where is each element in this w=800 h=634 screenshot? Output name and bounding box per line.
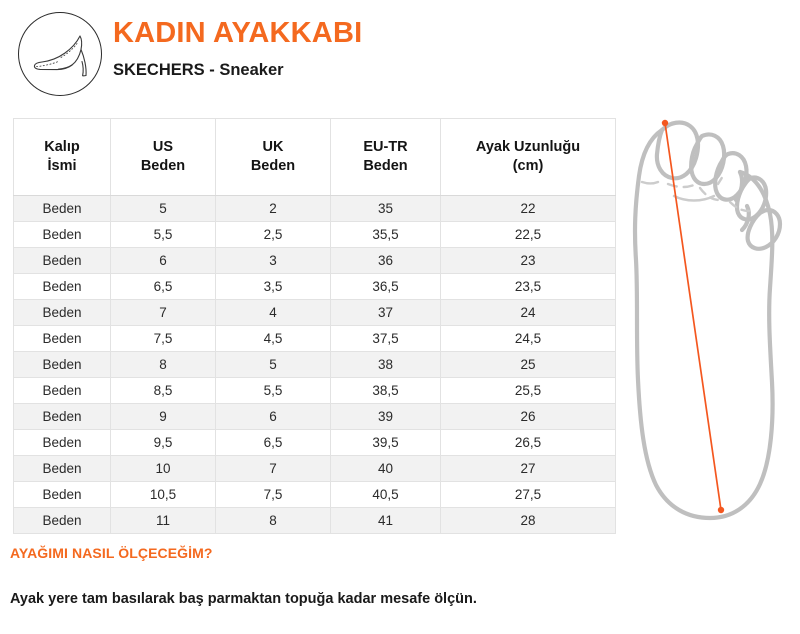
cell-uk-beden: 7,5 <box>216 482 331 508</box>
cell-uk-beden: 4 <box>216 300 331 326</box>
cell-kalip-ismi: Beden <box>14 404 111 430</box>
table-row: Beden1074027 <box>14 456 616 482</box>
cell-eu-tr-beden: 38,5 <box>331 378 441 404</box>
cell-us-beden: 10,5 <box>111 482 216 508</box>
cell-uk-beden: 5,5 <box>216 378 331 404</box>
page-footer: AYAĞIMI NASIL ÖLÇECEĞİM? Ayak yere tam b… <box>10 544 630 609</box>
cell-kalip-ismi: Beden <box>14 352 111 378</box>
cell-ayak-uzunlugu: 24 <box>441 300 616 326</box>
cell-us-beden: 8,5 <box>111 378 216 404</box>
column-header-line-2: Beden <box>111 157 215 176</box>
column-header-line-2: Beden <box>216 157 330 176</box>
cell-eu-tr-beden: 40 <box>331 456 441 482</box>
cell-eu-tr-beden: 36 <box>331 248 441 274</box>
table-row: Beden1184128 <box>14 508 616 534</box>
cell-ayak-uzunlugu: 25 <box>441 352 616 378</box>
cell-uk-beden: 3,5 <box>216 274 331 300</box>
table-row: Beden10,57,540,527,5 <box>14 482 616 508</box>
table-row: Beden7,54,537,524,5 <box>14 326 616 352</box>
cell-eu-tr-beden: 36,5 <box>331 274 441 300</box>
foot-sole-diagram: AYAK UZUNLUĞU <box>622 110 800 530</box>
column-header-line-1: EU-TR <box>331 138 440 157</box>
cell-eu-tr-beden: 39,5 <box>331 430 441 456</box>
cell-kalip-ismi: Beden <box>14 482 111 508</box>
cell-ayak-uzunlugu: 22,5 <box>441 222 616 248</box>
cell-us-beden: 11 <box>111 508 216 534</box>
column-header-kalip-ismi: Kalıp İsmi <box>14 119 111 196</box>
table-row: Beden743724 <box>14 300 616 326</box>
column-header-line-2: (cm) <box>441 157 615 176</box>
cell-kalip-ismi: Beden <box>14 274 111 300</box>
cell-eu-tr-beden: 37,5 <box>331 326 441 352</box>
cell-ayak-uzunlugu: 24,5 <box>441 326 616 352</box>
table-body: Beden523522Beden5,52,535,522,5Beden63362… <box>14 196 616 534</box>
high-heel-shoe-icon <box>30 33 92 79</box>
cell-kalip-ismi: Beden <box>14 326 111 352</box>
cell-us-beden: 7 <box>111 300 216 326</box>
cell-uk-beden: 2,5 <box>216 222 331 248</box>
cell-kalip-ismi: Beden <box>14 378 111 404</box>
column-header-ayak-uzunlugu: Ayak Uzunluğu (cm) <box>441 119 616 196</box>
table-row: Beden963926 <box>14 404 616 430</box>
measure-endpoint-toe <box>662 120 668 126</box>
column-header-line-1: Ayak Uzunluğu <box>441 138 615 157</box>
table-header-row: Kalıp İsmi US Beden UK Beden EU-TR Beden… <box>14 119 616 196</box>
foot-outline-svg <box>622 110 800 530</box>
column-header-line-2: Beden <box>331 157 440 176</box>
table-header: Kalıp İsmi US Beden UK Beden EU-TR Beden… <box>14 119 616 196</box>
column-header-uk-beden: UK Beden <box>216 119 331 196</box>
cell-kalip-ismi: Beden <box>14 222 111 248</box>
cell-kalip-ismi: Beden <box>14 248 111 274</box>
cell-ayak-uzunlugu: 26 <box>441 404 616 430</box>
cell-ayak-uzunlugu: 27 <box>441 456 616 482</box>
cell-eu-tr-beden: 41 <box>331 508 441 534</box>
cell-us-beden: 7,5 <box>111 326 216 352</box>
cell-us-beden: 8 <box>111 352 216 378</box>
size-chart-table: Kalıp İsmi US Beden UK Beden EU-TR Beden… <box>13 118 616 534</box>
page-header: KADIN AYAKKABI SKECHERS - Sneaker <box>0 0 800 110</box>
cell-ayak-uzunlugu: 23,5 <box>441 274 616 300</box>
column-header-us-beden: US Beden <box>111 119 216 196</box>
cell-kalip-ismi: Beden <box>14 196 111 222</box>
cell-ayak-uzunlugu: 23 <box>441 248 616 274</box>
cell-uk-beden: 2 <box>216 196 331 222</box>
cell-eu-tr-beden: 35,5 <box>331 222 441 248</box>
footer-heading: AYAĞIMI NASIL ÖLÇECEĞİM? <box>10 544 630 563</box>
cell-ayak-uzunlugu: 27,5 <box>441 482 616 508</box>
cell-us-beden: 5 <box>111 196 216 222</box>
cell-us-beden: 9,5 <box>111 430 216 456</box>
page-subtitle: SKECHERS - Sneaker <box>113 59 362 81</box>
column-header-line-1: UK <box>216 138 330 157</box>
cell-eu-tr-beden: 38 <box>331 352 441 378</box>
cell-uk-beden: 4,5 <box>216 326 331 352</box>
measure-endpoint-heel <box>718 507 724 513</box>
cell-us-beden: 9 <box>111 404 216 430</box>
cell-ayak-uzunlugu: 25,5 <box>441 378 616 404</box>
cell-ayak-uzunlugu: 26,5 <box>441 430 616 456</box>
brand-circle <box>18 12 102 96</box>
brand-icon-wrap <box>18 12 102 96</box>
cell-us-beden: 6 <box>111 248 216 274</box>
table-row: Beden853825 <box>14 352 616 378</box>
cell-uk-beden: 6,5 <box>216 430 331 456</box>
cell-uk-beden: 6 <box>216 404 331 430</box>
table-row: Beden633623 <box>14 248 616 274</box>
cell-eu-tr-beden: 35 <box>331 196 441 222</box>
table-row: Beden5,52,535,522,5 <box>14 222 616 248</box>
column-header-eu-tr-beden: EU-TR Beden <box>331 119 441 196</box>
column-header-line-1: US <box>111 138 215 157</box>
cell-kalip-ismi: Beden <box>14 508 111 534</box>
cell-eu-tr-beden: 40,5 <box>331 482 441 508</box>
cell-uk-beden: 3 <box>216 248 331 274</box>
cell-ayak-uzunlugu: 28 <box>441 508 616 534</box>
cell-uk-beden: 7 <box>216 456 331 482</box>
cell-kalip-ismi: Beden <box>14 456 111 482</box>
table-row: Beden8,55,538,525,5 <box>14 378 616 404</box>
cell-us-beden: 10 <box>111 456 216 482</box>
cell-uk-beden: 8 <box>216 508 331 534</box>
cell-ayak-uzunlugu: 22 <box>441 196 616 222</box>
column-header-line-2: İsmi <box>14 157 110 176</box>
cell-kalip-ismi: Beden <box>14 430 111 456</box>
cell-kalip-ismi: Beden <box>14 300 111 326</box>
cell-eu-tr-beden: 37 <box>331 300 441 326</box>
cell-uk-beden: 5 <box>216 352 331 378</box>
table-row: Beden9,56,539,526,5 <box>14 430 616 456</box>
cell-us-beden: 5,5 <box>111 222 216 248</box>
column-header-line-1: Kalıp <box>14 138 110 157</box>
page-title: KADIN AYAKKABI <box>113 16 362 50</box>
title-block: KADIN AYAKKABI SKECHERS - Sneaker <box>113 16 362 81</box>
cell-us-beden: 6,5 <box>111 274 216 300</box>
footer-instruction: Ayak yere tam basılarak baş parmaktan to… <box>10 589 630 609</box>
cell-eu-tr-beden: 39 <box>331 404 441 430</box>
table-row: Beden523522 <box>14 196 616 222</box>
table-row: Beden6,53,536,523,5 <box>14 274 616 300</box>
